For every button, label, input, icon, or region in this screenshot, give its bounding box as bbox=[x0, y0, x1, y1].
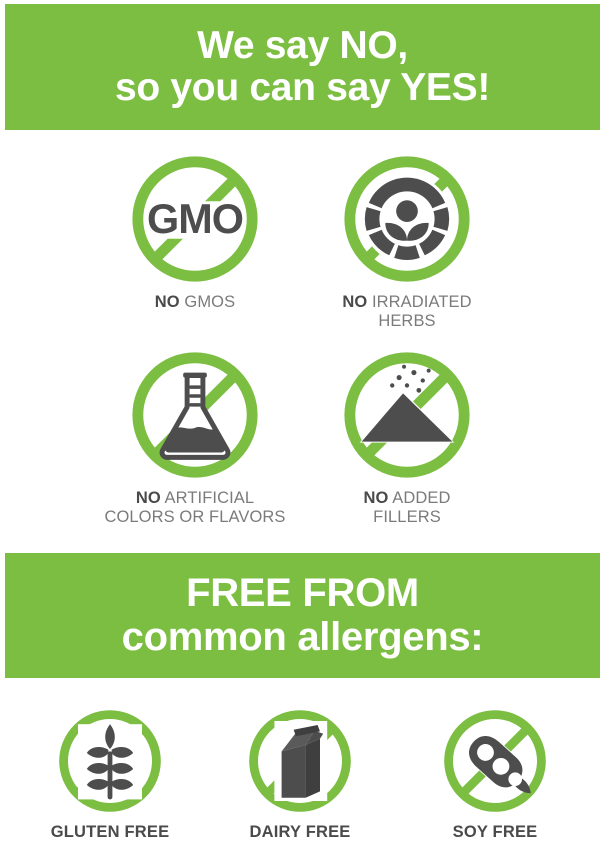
claim-label-line2: FILLERS bbox=[373, 508, 441, 526]
allergen-label-dairy-free: DAIRY FREE bbox=[249, 823, 350, 842]
allergen-item-soy-free: SOY FREE bbox=[395, 705, 595, 842]
soy-free-icon bbox=[439, 705, 551, 817]
header-banner-no: We say NO, so you can say YES! bbox=[5, 4, 600, 130]
no-artificial-colors-flavors-icon bbox=[126, 346, 264, 484]
header-banner-line-1: We say NO, bbox=[197, 25, 408, 67]
claim-label-rest: IRRADIATED bbox=[367, 293, 471, 311]
claim-label-line2: HERBS bbox=[378, 312, 435, 330]
no-added-fillers-icon bbox=[338, 346, 476, 484]
claim-item-no-added-fillers: NO ADDED FILLERS bbox=[287, 346, 527, 528]
claim-label-no-added-fillers: NO ADDED FILLERS bbox=[364, 489, 451, 528]
claim-label-bold: NO bbox=[155, 293, 180, 311]
claim-label-rest: ADDED bbox=[388, 489, 450, 507]
gmo-text: GMO bbox=[147, 196, 243, 242]
no-gmo-icon: GMO bbox=[126, 150, 264, 288]
claim-label-line2: COLORS OR FLAVORS bbox=[104, 508, 285, 526]
claim-item-no-gmos: GMO NO GMOS bbox=[75, 150, 315, 312]
no-claims-grid: GMO NO GMOS bbox=[0, 150, 600, 545]
claim-label-bold: NO bbox=[136, 489, 161, 507]
dairy-free-icon bbox=[244, 705, 356, 817]
allergen-banner: FREE FROM common allergens: bbox=[5, 553, 600, 678]
allergen-grid: GLUTEN FREE bbox=[0, 705, 600, 855]
allergen-item-dairy-free: DAIRY FREE bbox=[200, 705, 400, 842]
gluten-free-icon bbox=[54, 705, 166, 817]
claim-label-bold: NO bbox=[342, 293, 367, 311]
allergen-banner-line-1: FREE FROM bbox=[186, 572, 419, 615]
allergen-banner-line-2: common allergens: bbox=[122, 616, 484, 659]
claim-item-no-artificial-colors-flavors: NO ARTIFICIAL COLORS OR FLAVORS bbox=[75, 346, 315, 528]
header-banner-line-2: so you can say YES! bbox=[115, 67, 490, 109]
claim-label-no-irradiated-herbs: NO IRRADIATED HERBS bbox=[342, 293, 471, 332]
allergen-item-gluten-free: GLUTEN FREE bbox=[10, 705, 210, 842]
allergen-label-gluten-free: GLUTEN FREE bbox=[51, 823, 170, 842]
claim-label-bold: NO bbox=[364, 489, 389, 507]
claim-label-rest: GMOS bbox=[180, 293, 236, 311]
allergen-label-soy-free: SOY FREE bbox=[453, 823, 538, 842]
claim-label-rest: ARTIFICIAL bbox=[161, 489, 254, 507]
claim-label-no-gmos: NO GMOS bbox=[155, 293, 235, 312]
claim-item-no-irradiated-herbs: NO IRRADIATED HERBS bbox=[287, 150, 527, 332]
claim-label-no-artificial-colors-flavors: NO ARTIFICIAL COLORS OR FLAVORS bbox=[104, 489, 285, 528]
infographic-page: We say NO, so you can say YES! GMO NO GM… bbox=[0, 0, 600, 855]
no-irradiated-herbs-icon bbox=[338, 150, 476, 288]
